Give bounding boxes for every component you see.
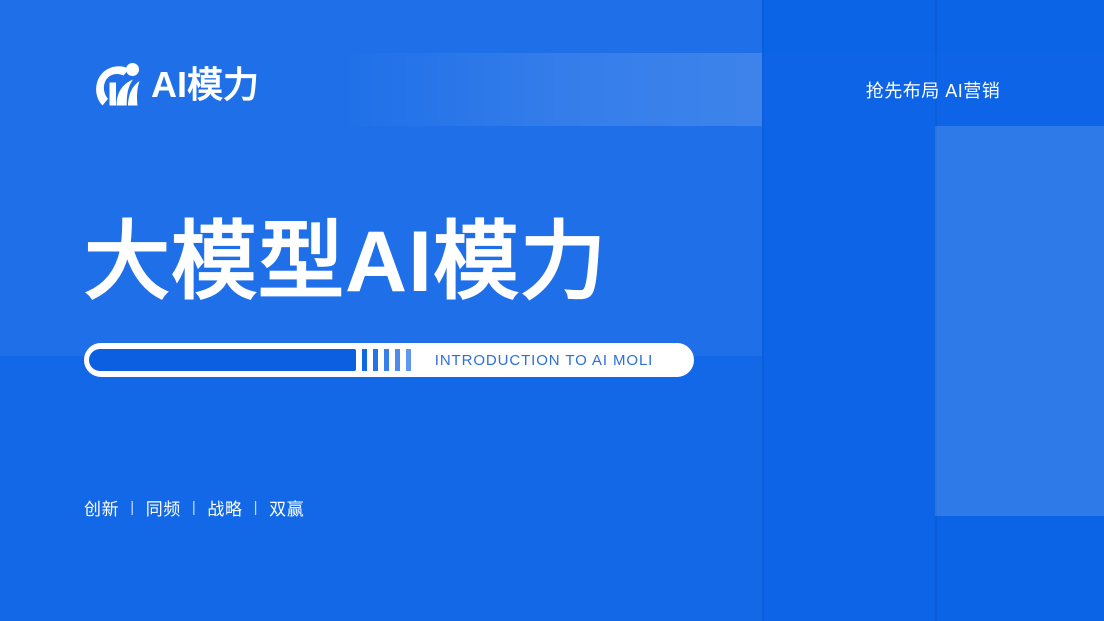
header-tagline: 抢先布局 AI营销 <box>762 53 1104 126</box>
logo-wordmark: AI模力 <box>151 67 259 103</box>
progress-ticks <box>362 349 411 371</box>
slide-canvas: AI模力 抢先布局 AI营销 大模型AI模力 INTRODUCTION TO A… <box>0 0 1104 621</box>
keyword-separator: | <box>192 499 197 516</box>
progress-tick <box>384 349 389 371</box>
background-header-sheen <box>333 53 762 126</box>
progress-tick <box>406 349 411 371</box>
progress-label: INTRODUCTION TO AI MOLI <box>411 352 691 369</box>
page-title: 大模型AI模力 <box>84 219 607 305</box>
progress-tick <box>362 349 367 371</box>
ai-moli-logo-mark-icon <box>92 60 144 110</box>
introduction-progress-pill[interactable]: INTRODUCTION TO AI MOLI <box>84 343 694 377</box>
keyword-separator: | <box>254 499 259 516</box>
progress-fill <box>89 349 356 371</box>
background-right-top-block <box>762 0 1104 53</box>
progress-tick <box>395 349 400 371</box>
background-right-light-panel <box>935 126 1104 516</box>
background-right-mid-column <box>762 126 935 621</box>
keyword-item: 战略 <box>207 495 242 520</box>
keyword-item: 双赢 <box>269 495 304 520</box>
keyword-item: 创新 <box>84 495 119 520</box>
logo[interactable]: AI模力 <box>92 60 259 110</box>
keyword-list: 创新 | 同频 | 战略 | 双赢 <box>84 495 304 520</box>
progress-tick <box>373 349 378 371</box>
keyword-item: 同频 <box>146 495 181 520</box>
keyword-separator: | <box>130 499 135 516</box>
